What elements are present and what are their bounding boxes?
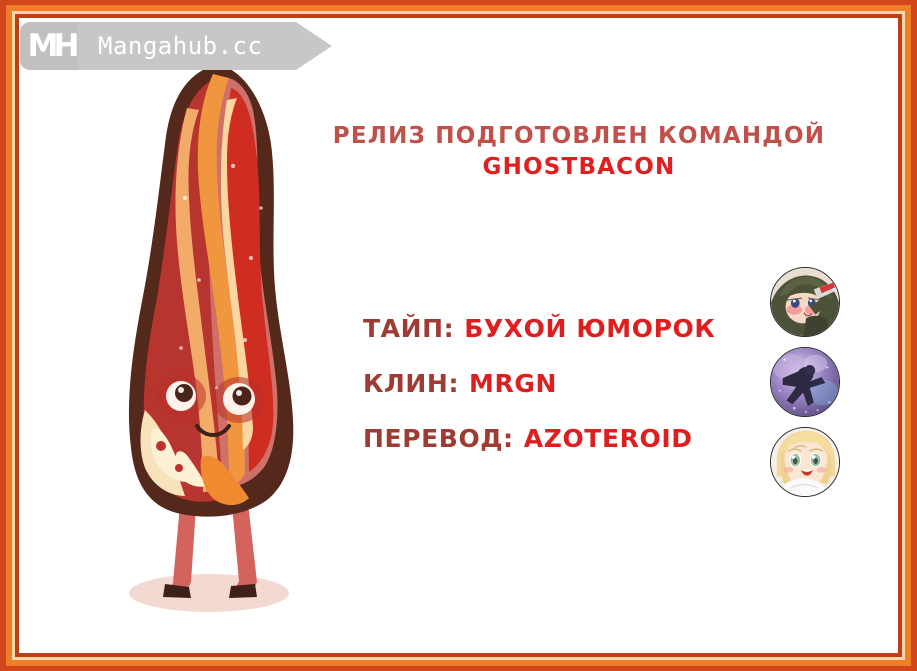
release-credits-page: MH Mangahub.cc bbox=[0, 0, 917, 671]
release-headline: РЕЛИЗ ПОДГОТОВЛЕН КОМАНДОЙ GHOSTBACON bbox=[299, 122, 859, 182]
avatar-cleaner bbox=[770, 347, 840, 417]
credit-value: AZOTEROID bbox=[524, 424, 693, 453]
headline-line-1: РЕЛИЗ ПОДГОТОВЛЕН КОМАНДОЙ bbox=[299, 122, 859, 151]
credit-row-cleaner: КЛИН: MRGN bbox=[363, 369, 715, 424]
site-watermark-banner: MH Mangahub.cc bbox=[20, 22, 262, 70]
avatar-list bbox=[770, 267, 840, 507]
avatar-translator bbox=[770, 427, 840, 497]
credit-label: КЛИН: bbox=[363, 369, 459, 398]
headline-line-2: GHOSTBACON bbox=[299, 153, 859, 182]
credit-row-translator: ПЕРЕВОД: AZOTEROID bbox=[363, 424, 715, 479]
site-name-label: Mangahub.cc bbox=[98, 32, 262, 60]
credit-label: ПЕРЕВОД: bbox=[363, 424, 514, 453]
credit-row-typesetter: ТАЙП: БУХОЙ ЮМОРОК bbox=[363, 314, 715, 369]
avatar-typesetter bbox=[770, 267, 840, 337]
logo-monogram: MH bbox=[24, 31, 75, 62]
credit-value: БУХОЙ ЮМОРОК bbox=[464, 314, 715, 343]
mh-logo-icon: MH bbox=[20, 22, 78, 70]
credit-value: MRGN bbox=[469, 369, 557, 398]
page-canvas: MH Mangahub.cc bbox=[19, 18, 898, 653]
credits-list: ТАЙП: БУХОЙ ЮМОРОК КЛИН: MRGN ПЕРЕВОД: A… bbox=[363, 314, 715, 479]
credit-label: ТАЙП: bbox=[363, 314, 454, 343]
